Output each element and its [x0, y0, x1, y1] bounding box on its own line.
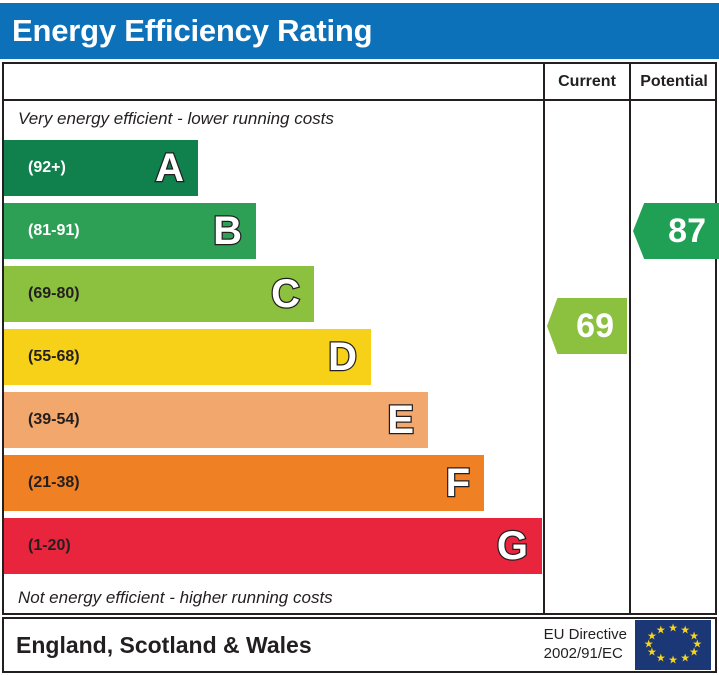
band-letter-b: B	[213, 211, 242, 251]
footer-directive-block: EU Directive 2002/91/EC ★★★★★★★★★★★★	[544, 619, 711, 671]
page-title: Energy Efficiency Rating	[0, 13, 372, 49]
eu-directive-line2: 2002/91/EC	[544, 645, 627, 664]
band-letter-d: D	[328, 337, 357, 377]
column-divider-potential	[629, 64, 631, 613]
band-letter-g: G	[497, 526, 528, 566]
current-rating-indicator: 69	[547, 298, 627, 354]
caption-very-efficient: Very energy efficient - lower running co…	[18, 109, 334, 129]
band-range-a: (92+)	[4, 159, 66, 177]
caption-not-efficient: Not energy efficient - higher running co…	[18, 588, 333, 608]
band-range-f: (21-38)	[4, 474, 80, 492]
column-header-current: Current	[545, 64, 629, 99]
chart-title-bar: Energy Efficiency Rating	[0, 3, 719, 59]
band-row-c: (69-80) C	[4, 266, 314, 322]
eu-star-icon: ★	[689, 648, 699, 659]
band-letter-f: F	[446, 463, 470, 503]
band-row-f: (21-38) F	[4, 455, 484, 511]
column-header-row: Current Potential	[4, 64, 715, 101]
eu-star-icon: ★	[668, 656, 678, 667]
band-letter-c: C	[271, 274, 300, 314]
eu-star-icon: ★	[656, 626, 666, 637]
band-row-d: (55-68) D	[4, 329, 371, 385]
band-row-g: (1-20) G	[4, 518, 542, 574]
band-row-a: (92+) A	[4, 140, 198, 196]
current-rating-value: 69	[576, 309, 627, 343]
eu-flag-icon: ★★★★★★★★★★★★	[635, 620, 711, 670]
eu-directive-line1: EU Directive	[544, 626, 627, 645]
footer-region-label: England, Scotland & Wales	[4, 632, 312, 659]
band-row-b: (81-91) B	[4, 203, 256, 259]
band-row-e: (39-54) E	[4, 392, 428, 448]
rating-chart-frame: Current Potential Very energy efficient …	[2, 62, 717, 615]
column-divider-current	[543, 64, 545, 613]
band-letter-e: E	[387, 400, 414, 440]
band-range-g: (1-20)	[4, 537, 71, 555]
potential-rating-indicator: 87	[633, 203, 719, 259]
band-range-d: (55-68)	[4, 348, 80, 366]
band-letter-a: A	[155, 148, 184, 188]
certificate-footer: England, Scotland & Wales EU Directive 2…	[2, 617, 717, 673]
band-range-b: (81-91)	[4, 222, 80, 240]
eu-star-icon: ★	[656, 653, 666, 664]
band-range-c: (69-80)	[4, 285, 80, 303]
band-range-e: (39-54)	[4, 411, 80, 429]
energy-efficiency-certificate: Energy Efficiency Rating Current Potenti…	[0, 0, 719, 675]
potential-rating-value: 87	[668, 214, 719, 248]
eu-star-icon: ★	[668, 624, 678, 635]
rating-bands: (92+) A (81-91) B (69-80) C (55-68) D (3…	[4, 140, 543, 584]
eu-directive-text: EU Directive 2002/91/EC	[544, 626, 627, 664]
eu-star-icon: ★	[680, 653, 690, 664]
column-header-potential: Potential	[631, 64, 717, 99]
